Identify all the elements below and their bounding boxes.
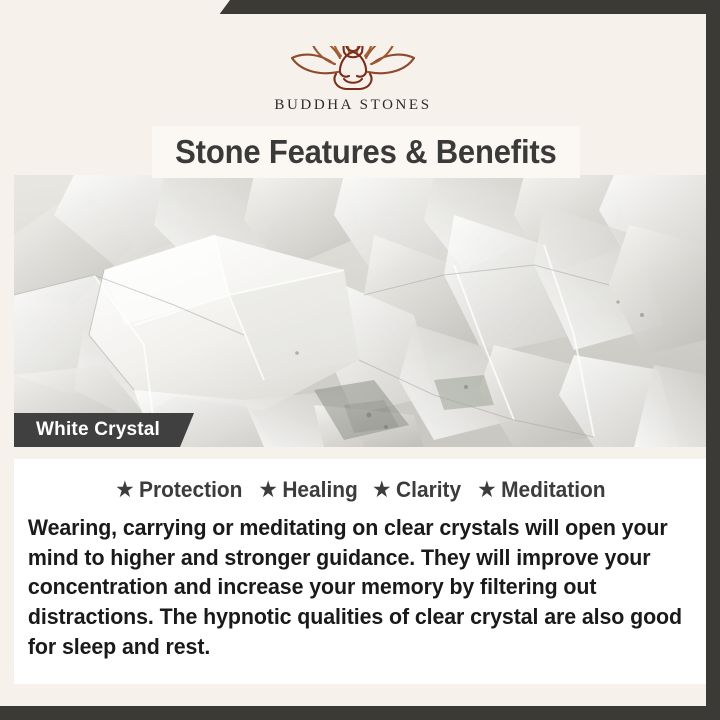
benefit-item-protection: ★ Protection [117,477,243,503]
poster-card: BUDDHA STONES Stone Features & Benefits [0,0,706,706]
benefit-label: Clarity [396,477,461,503]
star-icon: ★ [478,480,495,500]
benefit-label: Protection [139,477,242,503]
benefits-row: ★ Protection ★ Healing ★ Clarity ★ Medit… [26,473,696,507]
benefit-item-meditation: ★ Meditation [478,477,605,503]
star-icon: ★ [374,480,391,500]
panel-bottom-strip [14,684,706,706]
top-dark-band-mask [196,14,706,46]
star-icon: ★ [260,480,277,500]
benefit-label: Healing [282,477,357,503]
crystal-photo-artwork [14,175,706,447]
benefit-item-healing: ★ Healing [260,477,358,503]
photo-caption-text: White Crystal [36,419,160,441]
photo-caption-label: White Crystal [14,413,194,447]
product-feature-poster: BUDDHA STONES Stone Features & Benefits [0,0,720,720]
white-crystal-cluster-photo: White Crystal [14,175,706,447]
star-icon: ★ [117,480,134,500]
brand-wordmark: BUDDHA STONES [274,97,431,114]
under-photo-strip [14,447,706,459]
title-banner: Stone Features & Benefits [152,126,580,178]
benefit-item-clarity: ★ Clarity [374,477,462,503]
description-paragraph: Wearing, carrying or meditating on clear… [26,513,694,661]
content-panel: ★ Protection ★ Healing ★ Clarity ★ Medit… [14,459,706,684]
benefit-label: Meditation [501,477,605,503]
page-title: Stone Features & Benefits [175,133,556,171]
